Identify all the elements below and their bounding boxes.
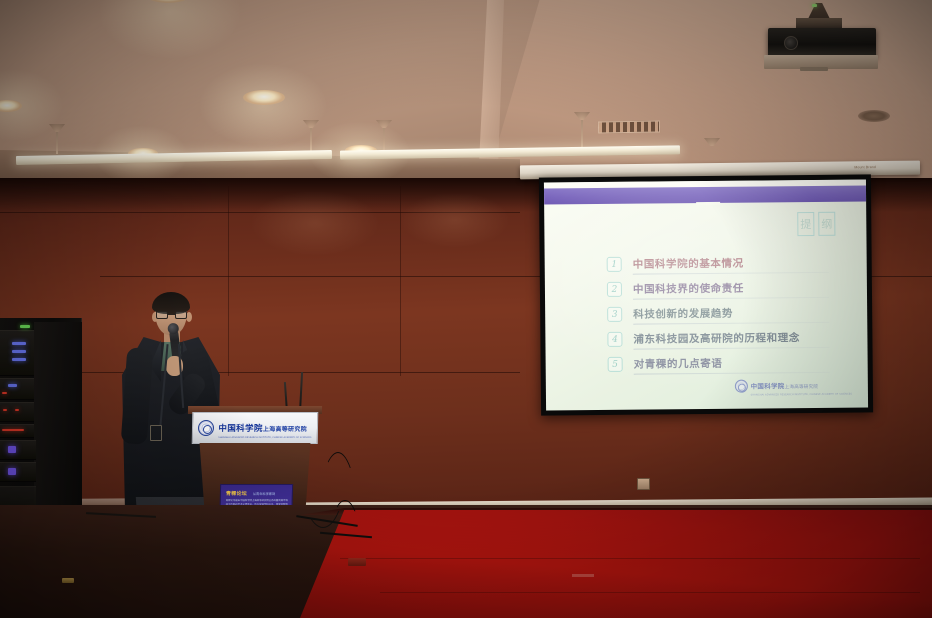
- glasses-lens-left: [156, 311, 168, 319]
- floor-cable-box: [348, 558, 366, 566]
- outline-label: 中国科技界的使命责任: [633, 281, 744, 297]
- rack-led-blue: [8, 384, 17, 387]
- slide-title-char-1: 提: [797, 212, 814, 236]
- slide-band-notch: [696, 202, 720, 205]
- rack-side-panel: [34, 322, 82, 522]
- slide-institution-logo: 中国科学院上海高等研究院 SHANGHAI ADVANCED RESEARCH …: [734, 375, 851, 397]
- slide-outline-list: 1 中国科学院的基本情况 2 中国科技界的使命责任 3 科技创新的发展趋势 4 …: [607, 250, 840, 377]
- slide-logo-sub: 上海高等研究院: [785, 385, 819, 390]
- slide-title-char-2: 纲: [818, 212, 835, 236]
- cas-seal-icon: [735, 380, 748, 393]
- glasses-bridge: [168, 314, 175, 315]
- banner-subtitle: 从青年科学家到: [253, 491, 275, 496]
- rack-display-violet: [8, 446, 16, 453]
- red-carpet: [300, 510, 932, 618]
- rack-unit-amp-1[interactable]: [0, 378, 34, 400]
- rack-led-blue: [12, 350, 26, 353]
- slide-logo-en: SHANGHAI ADVANCED RESEARCH INSTITUTE, CH…: [751, 393, 852, 397]
- podium-plaque-text: 中国科学院上海高等研究院 SHANGHAI ADVANCED RESEARCH …: [218, 418, 312, 439]
- carpet-seam-mark: [572, 574, 594, 577]
- outline-number: 4: [607, 332, 622, 347]
- podium-name-plaque: 中国科学院上海高等研究院 SHANGHAI ADVANCED RESEARCH …: [192, 412, 319, 444]
- ceiling-air-vent: [598, 120, 660, 133]
- rack-led-blue: [12, 358, 26, 361]
- speaker-id-badge: [150, 425, 162, 441]
- outline-number: 2: [607, 282, 622, 297]
- projector-lens-icon: [784, 36, 798, 50]
- wall-outlet-plate[interactable]: [637, 478, 650, 490]
- lecture-hall-photo: Mount Brand 提 纲 1 中国科学院的基本情况 2 中国科技界的使命责…: [0, 0, 932, 618]
- speaker-glasses: [156, 311, 187, 319]
- floor-small-object: [62, 578, 74, 583]
- podium-logo-zh: 中国科学院: [218, 424, 263, 434]
- slide-logo-zh: 中国科学院: [751, 382, 785, 390]
- rack-unit-meter[interactable]: [0, 424, 34, 438]
- outline-item: 5 对青稞的几点寄语: [608, 350, 840, 377]
- carpet-crease: [340, 558, 920, 559]
- rack-unit-player-2[interactable]: [0, 462, 36, 482]
- rack-led-red: [15, 409, 19, 411]
- downlight-ceiling-2: [243, 90, 285, 105]
- rack-led-blue: [12, 342, 26, 345]
- rack-display-violet: [8, 468, 16, 475]
- slide-title-boxes: 提 纲: [797, 212, 835, 236]
- wall-light-reflection: [400, 192, 510, 248]
- projector-status-led: [812, 4, 817, 7]
- projection-screen: 提 纲 1 中国科学院的基本情况 2 中国科技界的使命责任 3 科技创新的发展趋…: [539, 174, 873, 415]
- outline-label: 科技创新的发展趋势: [633, 306, 733, 322]
- outline-number: 3: [607, 307, 622, 322]
- rack-led-red: [2, 392, 7, 394]
- rack-led-meter-bar: [2, 429, 24, 431]
- outline-item: 1 中国科学院的基本情况: [607, 250, 839, 277]
- outline-label: 中国科学院的基本情况: [633, 256, 744, 272]
- glasses-lens-right: [175, 311, 187, 319]
- wall-seam-vertical: [228, 186, 229, 376]
- slide-logo-text: 中国科学院上海高等研究院 SHANGHAI ADVANCED RESEARCH …: [750, 375, 851, 397]
- carpet-crease: [380, 592, 920, 593]
- outline-label: 对青稞的几点寄语: [634, 356, 723, 372]
- outline-item: 3 科技创新的发展趋势: [607, 300, 839, 327]
- outline-item: 4 浦东科技园及高研院的历程和理念: [607, 325, 839, 352]
- microphone-head-icon: [167, 323, 179, 335]
- rack-unit-amp-2[interactable]: [0, 402, 34, 422]
- podium-logo-en: SHANGHAI ADVANCED RESEARCH INSTITUTE, CH…: [218, 436, 311, 439]
- screen-brand-label: Mount Brand: [854, 165, 876, 169]
- downlight-ceiling-7: [858, 110, 890, 122]
- outline-number: 1: [607, 257, 622, 272]
- rack-led-red: [3, 409, 7, 411]
- outline-item: 2 中国科技界的使命责任: [607, 275, 839, 302]
- rack-unit-mixer[interactable]: [0, 330, 34, 376]
- banner-title: 青稞论坛: [226, 490, 247, 497]
- outline-number: 5: [608, 357, 623, 372]
- outline-label: 浦东科技园及高研院的历程和理念: [633, 330, 800, 347]
- cas-seal-icon: [198, 420, 214, 436]
- rack-led-green: [20, 325, 30, 328]
- rack-unit-player-1[interactable]: [0, 440, 36, 460]
- podium-logo-sub: 上海高等研究院: [263, 426, 307, 433]
- projector-foot: [800, 67, 828, 71]
- wall-light-reflection: [250, 190, 380, 256]
- presentation-slide: 提 纲 1 中国科学院的基本情况 2 中国科技界的使命责任 3 科技创新的发展趋…: [544, 179, 868, 410]
